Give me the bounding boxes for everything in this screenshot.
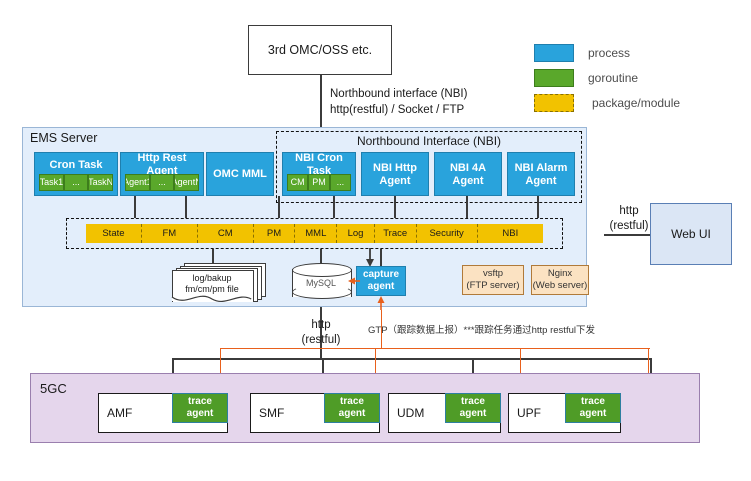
nbi-link-line1: Northbound interface (NBI) — [330, 87, 467, 103]
module-fm[interactable]: FM — [142, 224, 198, 243]
file-storage-stack: log/bakup fm/cm/pm file — [172, 263, 264, 301]
5gc-title: 5GC — [40, 381, 67, 396]
connector-omc-mml-to-modules — [333, 196, 335, 218]
process-http-rest-agent[interactable]: Http Rest Agent Agent1 ... AgentN — [120, 152, 204, 196]
trace-agent-smf-line2: agent — [339, 408, 366, 420]
process-nbi-alarm-agent[interactable]: NBI Alarm Agent — [507, 152, 575, 196]
legend-label-package: package/module — [592, 96, 680, 110]
nginx-line2: (Web server) — [533, 280, 588, 292]
bus-orange-riser-to-capture — [381, 310, 382, 348]
http-restful-line2: (restful) — [297, 333, 345, 348]
network-function-udm[interactable]: UDM trace agent — [388, 393, 501, 433]
network-function-udm-label: UDM — [397, 406, 424, 420]
connector-modules-to-files — [212, 249, 214, 263]
network-function-upf-label: UPF — [517, 406, 541, 420]
external-omc-oss-label: 3rd OMC/OSS etc. — [268, 43, 372, 57]
trace-agent-udm-line2: agent — [460, 408, 487, 420]
bus-orange-horizontal — [220, 348, 650, 349]
connector-ems-to-webui — [604, 234, 650, 236]
trace-agent-smf-line1: trace — [340, 396, 364, 408]
process-nbi-4a-agent[interactable]: NBI 4A Agent — [434, 152, 502, 196]
webui-link-line1: http — [606, 204, 652, 219]
nbi-link-annotation: Northbound interface (NBI) http(restful)… — [330, 87, 467, 118]
vsftp-line2: (FTP server) — [466, 280, 519, 292]
goroutine-strip-nbi-cron-task: CM PM ... — [287, 174, 351, 191]
goroutine-strip-cron-task: Task1 ... TaskN — [39, 174, 113, 191]
modules-bar: State FM CM PM MML Log Trace Security NB… — [86, 224, 543, 243]
connector-nbi-http-to-modules — [394, 196, 396, 218]
process-cron-task-label: Cron Task — [35, 157, 117, 173]
trace-agent-amf-line1: trace — [188, 396, 212, 408]
goroutine-agentn[interactable]: AgentN — [174, 174, 199, 191]
trace-agent-upf[interactable]: trace agent — [565, 393, 621, 423]
module-state[interactable]: State — [86, 224, 142, 243]
legend-item-goroutine: goroutine — [534, 68, 734, 88]
trace-agent-udm[interactable]: trace agent — [445, 393, 501, 423]
nginx-server-box: Nginx (Web server) — [531, 265, 589, 295]
nginx-line1: Nginx — [548, 268, 572, 280]
mysql-database: MySQL — [292, 263, 350, 303]
legend-swatch-package — [534, 94, 574, 112]
webui-link-line2: (restful) — [606, 219, 652, 234]
legend: process goroutine package/module — [534, 43, 734, 111]
module-nbi[interactable]: NBI — [478, 224, 543, 243]
process-nbi-http-agent-line1: NBI Http — [373, 162, 417, 175]
legend-swatch-goroutine — [534, 69, 574, 87]
process-omc-mml[interactable]: OMC MML — [206, 152, 274, 196]
connector-cron-task-to-modules — [185, 196, 187, 218]
http-restful-annotation: http (restful) — [297, 318, 345, 348]
legend-item-process: process — [534, 43, 734, 63]
http-restful-line1: http — [297, 318, 345, 333]
module-security[interactable]: Security — [417, 224, 478, 243]
gtp-annotation: GTP（跟踪数据上报）***跟踪任务通过http restful下发 — [368, 322, 595, 336]
file-storage-labels: log/bakup fm/cm/pm file — [172, 269, 252, 305]
process-nbi-alarm-agent-line1: NBI Alarm — [515, 162, 568, 175]
process-nbi-http-agent-line2: Agent — [379, 175, 410, 188]
process-nbi-http-agent-label: NBI Http Agent — [362, 161, 428, 189]
network-function-amf-label: AMF — [107, 406, 132, 420]
module-mml[interactable]: MML — [295, 224, 337, 243]
process-nbi-alarm-agent-line2: Agent — [525, 175, 556, 188]
connector-nbi-4a-to-modules — [466, 196, 468, 218]
connector-modules-to-mysql — [320, 249, 322, 263]
capture-agent-line2: agent — [368, 281, 395, 293]
bus-black-horizontal — [172, 358, 652, 360]
web-ui-box[interactable]: Web UI — [650, 203, 732, 265]
trace-agent-upf-line2: agent — [580, 408, 607, 420]
process-nbi-4a-agent-label: NBI 4A Agent — [435, 161, 501, 189]
process-nbi-cron-task[interactable]: NBI Cron Task CM PM ... — [282, 152, 356, 196]
vsftp-line1: vsftp — [483, 268, 503, 280]
connector-omc-to-ems — [320, 75, 322, 131]
process-nbi-4a-agent-line2: Agent — [452, 175, 483, 188]
trace-agent-smf[interactable]: trace agent — [324, 393, 380, 423]
process-cron-task[interactable]: Cron Task Task1 ... TaskN — [34, 152, 118, 196]
trace-agent-amf-line2: agent — [187, 408, 214, 420]
goroutine-task1[interactable]: Task1 — [39, 174, 64, 191]
legend-label-process: process — [588, 46, 630, 60]
goroutine-ellipsis[interactable]: ... — [330, 174, 351, 191]
connector-modules-to-capture — [380, 249, 382, 266]
module-trace[interactable]: Trace — [375, 224, 417, 243]
capture-agent-line1: capture — [363, 269, 399, 281]
process-nbi-cron-task-label: NBI Cron Task — [283, 157, 355, 173]
goroutine-pm[interactable]: PM — [308, 174, 329, 191]
network-function-upf[interactable]: UPF trace agent — [508, 393, 621, 433]
module-pm[interactable]: PM — [254, 224, 296, 243]
module-log[interactable]: Log — [337, 224, 375, 243]
trace-agent-udm-line1: trace — [461, 396, 485, 408]
process-nbi-4a-agent-line1: NBI 4A — [450, 162, 486, 175]
process-nbi-http-agent[interactable]: NBI Http Agent — [361, 152, 429, 196]
file-storage-line2: fm/cm/pm file — [172, 284, 252, 295]
network-function-amf[interactable]: AMF trace agent — [98, 393, 228, 433]
connector-http-rest-agent-to-modules — [278, 196, 280, 218]
goroutine-ellipsis[interactable]: ... — [64, 174, 89, 191]
module-cm[interactable]: CM — [198, 224, 254, 243]
trace-agent-amf[interactable]: trace agent — [172, 393, 228, 423]
process-omc-mml-label: OMC MML — [213, 168, 267, 181]
legend-swatch-process — [534, 44, 574, 62]
network-function-smf-label: SMF — [259, 406, 284, 420]
web-ui-label: Web UI — [671, 227, 711, 241]
connector-nbi-cron-to-modules — [134, 196, 136, 218]
nbi-group-title: Northbound Interface (NBI) — [276, 133, 582, 148]
mysql-label: MySQL — [292, 275, 350, 291]
legend-item-package: package/module — [534, 93, 734, 113]
file-storage-line1: log/bakup — [172, 273, 252, 284]
legend-label-goroutine: goroutine — [588, 71, 638, 85]
network-function-smf[interactable]: SMF trace agent — [250, 393, 380, 433]
goroutine-strip-http-rest-agent: Agent1 ... AgentN — [125, 174, 199, 191]
arrow-modules-to-capture-agent — [363, 248, 377, 268]
goroutine-taskn[interactable]: TaskN — [88, 174, 113, 191]
external-omc-oss-box: 3rd OMC/OSS etc. — [248, 25, 392, 75]
goroutine-cm[interactable]: CM — [287, 174, 308, 191]
process-nbi-alarm-agent-label: NBI Alarm Agent — [508, 161, 574, 189]
goroutine-agent1[interactable]: Agent1 — [125, 174, 150, 191]
webui-link-annotation: http (restful) — [606, 204, 652, 234]
nbi-link-line2: http(restful) / Socket / FTP — [330, 103, 467, 119]
process-http-rest-agent-label: Http Rest Agent — [121, 157, 203, 173]
trace-agent-upf-line1: trace — [581, 396, 605, 408]
arrow-gtp-into-capture-agent — [375, 296, 387, 310]
capture-agent-box[interactable]: capture agent — [356, 266, 406, 296]
goroutine-ellipsis[interactable]: ... — [150, 174, 175, 191]
vsftp-server-box: vsftp (FTP server) — [462, 265, 524, 295]
ems-server-title: EMS Server — [30, 131, 97, 145]
connector-nbi-alarm-to-modules — [537, 196, 539, 218]
